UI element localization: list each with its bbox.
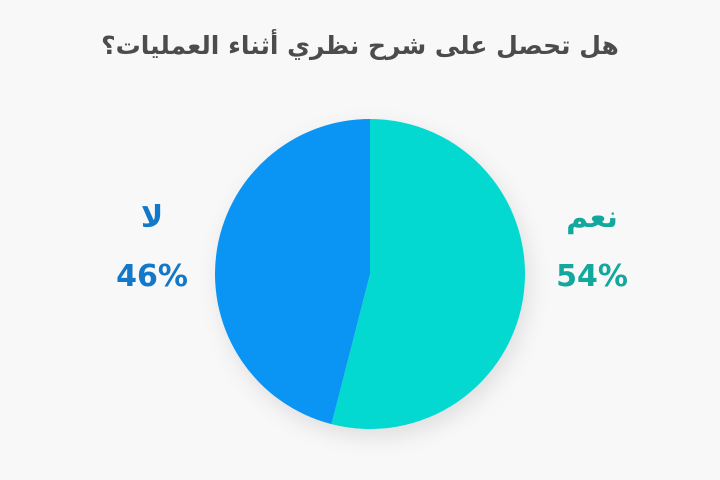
chart-title: هل تحصل على شرح نظري أثناء العمليات؟ [0, 30, 720, 61]
slice-label-no: لا 46% [72, 203, 232, 292]
slice-label-yes-value: 54% [512, 262, 672, 292]
slice-label-no-name: لا [72, 203, 232, 233]
pie-graphic [215, 119, 525, 429]
pie-svg [215, 119, 525, 429]
slice-label-yes-name: نعم [512, 203, 672, 233]
slice-label-yes: نعم 54% [512, 203, 672, 292]
slice-label-no-value: 46% [72, 262, 232, 292]
pie-chart-figure: هل تحصل على شرح نظري أثناء العمليات؟ لا … [0, 0, 720, 480]
